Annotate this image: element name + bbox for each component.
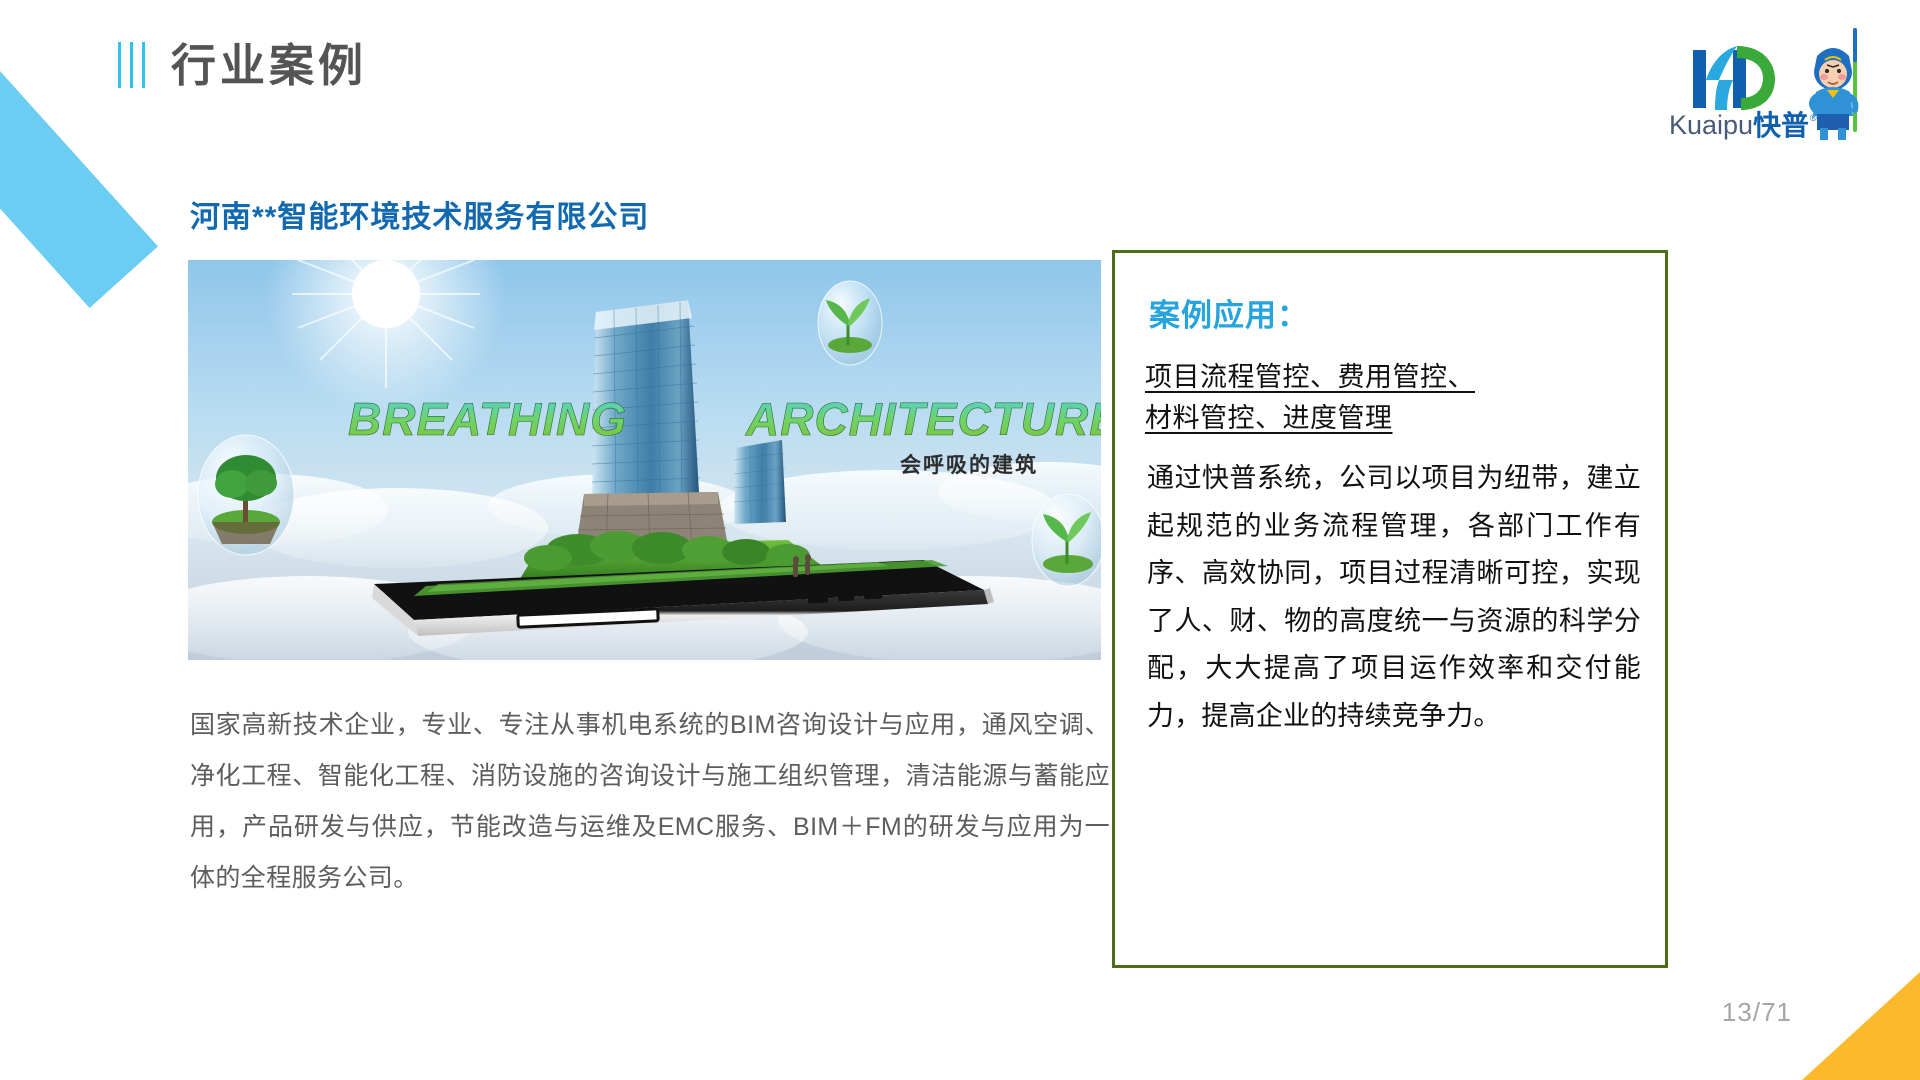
panel-body-text: 通过快普系统，公司以项目为纽带，建立起规范的业务流程管理，各部门工作有序、高效协…: [1147, 455, 1641, 740]
three-vertical-bars-icon: [118, 42, 145, 88]
kuaipu-logo: Kuaipu 快普 ®: [1667, 22, 1872, 142]
mascot-character-icon: [1812, 28, 1857, 140]
company-name: 河南**智能环境技术服务有限公司: [190, 192, 649, 236]
logo-wordmark: Kuaipu 快普 ®: [1669, 110, 1817, 141]
company-description: 国家高新技术企业，专业、专注从事机电系统的BIM咨询设计与应用，通风空调、净化工…: [190, 700, 1110, 904]
slide-header: 行业案例: [118, 42, 367, 88]
panel-keyword-line-1: 项目流程管控、费用管控、: [1145, 362, 1475, 392]
page-title: 行业案例: [171, 43, 367, 88]
panel-keywords: 项目流程管控、费用管控、 材料管控、进度管理: [1145, 357, 1635, 439]
svg-text:ARCHITECTURE: ARCHITECTURE: [745, 393, 1101, 445]
panel-keyword-line-2: 材料管控、进度管理: [1145, 403, 1393, 433]
sprout-bubble-top: [818, 281, 882, 365]
case-application-panel: 案例应用： 项目流程管控、费用管控、 材料管控、进度管理 通过快普系统，公司以项…: [1112, 250, 1668, 968]
sprout-bubble-right: [1032, 494, 1101, 586]
svg-text:会呼吸的建筑: 会呼吸的建筑: [900, 453, 1038, 477]
svg-text:BREATHING: BREATHING: [348, 393, 627, 445]
tree-bubble: [198, 435, 294, 555]
svg-text:快普: 快普: [1753, 110, 1809, 141]
page-number: 13/71: [1722, 997, 1792, 1028]
bottom-right-triangle-decoration: [1802, 972, 1920, 1080]
svg-text:Kuaipu: Kuaipu: [1669, 110, 1753, 140]
breathing-architecture-photo: BREATHING ARCHITECTURE 会呼吸的建筑: [188, 260, 1101, 660]
panel-heading: 案例应用：: [1149, 290, 1309, 335]
kp-monogram-icon: [1693, 46, 1775, 110]
slide-root: 行业案例 Kuaipu 快普 ®: [0, 0, 1920, 1080]
